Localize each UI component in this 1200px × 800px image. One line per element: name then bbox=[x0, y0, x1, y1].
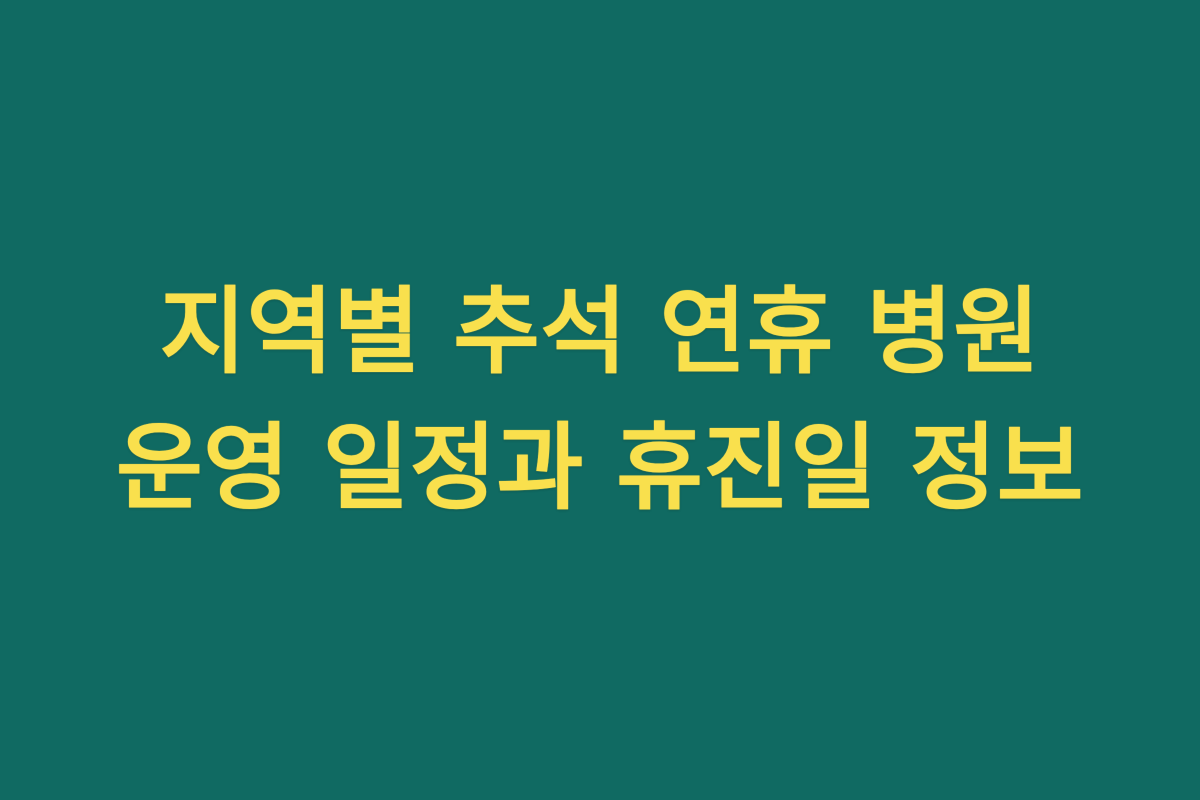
headline-line-2: 운영 일정과 휴진일 정보 bbox=[60, 400, 1140, 536]
headline-line-1: 지역별 추석 연휴 병원 bbox=[60, 264, 1140, 400]
banner-card: 지역별 추석 연휴 병원 운영 일정과 휴진일 정보 bbox=[0, 0, 1200, 800]
page-title: 지역별 추석 연휴 병원 운영 일정과 휴진일 정보 bbox=[60, 264, 1140, 536]
